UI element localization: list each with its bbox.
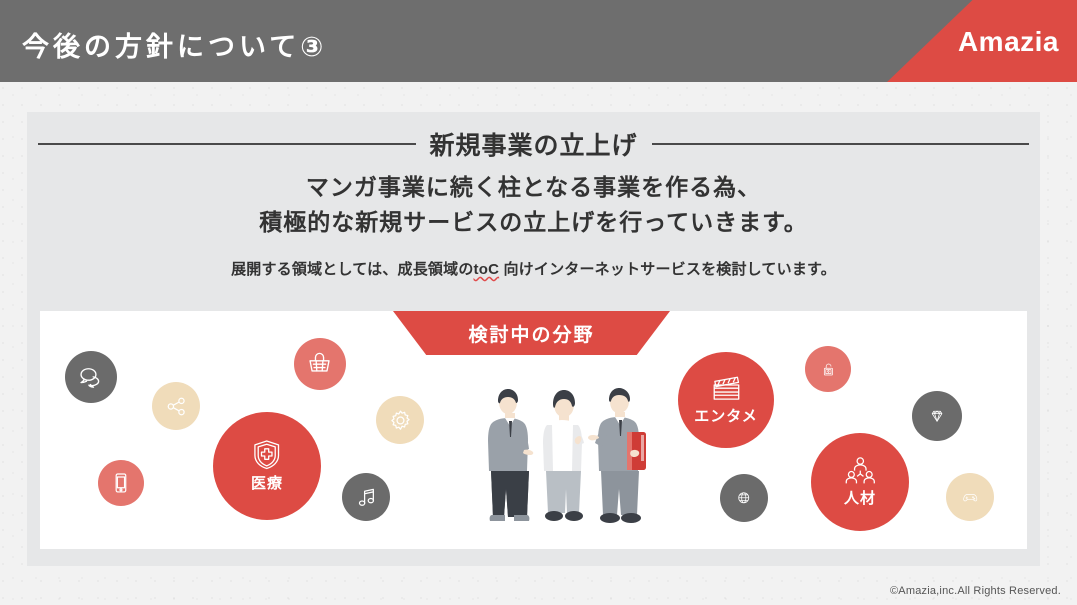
bubble-medical-shield[interactable]: 医療 [213,412,321,520]
sub-note-suffix: 向けインターネットサービスを検討しています。 [499,261,836,278]
bubble-globe[interactable] [720,474,768,522]
bubble-padlock[interactable] [805,346,851,392]
slide-header: 今後の方針について③ Amazia [0,0,1077,82]
person-center [543,390,584,521]
lead-line-1: マンガ事業に続く柱となる事業を作る為、 [27,170,1040,205]
bubble-label: エンタメ [694,405,758,426]
bubble-smartphone[interactable] [98,460,144,506]
sub-note-highlight: toC [474,261,500,278]
globe-icon [736,490,751,505]
bubble-clapperboard[interactable]: エンタメ [678,352,774,448]
sub-note: 展開する領域としては、成長領域のtoC 向けインターネットサービスを検討していま… [27,258,1040,279]
heading-rule-left [38,143,416,145]
section-heading: 新規事業の立上げ [27,126,1040,162]
person-left [488,389,533,521]
chat-bubble-icon [77,363,104,390]
bubble-people-group[interactable]: 人材 [811,433,909,531]
copyright-footer: ©Amazia,inc.All Rights Reserved. [890,585,1061,597]
ribbon-label: 検討中の分野 [468,320,594,347]
sub-note-prefix: 展開する領域としては、成長領域の [231,261,473,278]
section-heading-label: 新規事業の立上げ [430,126,638,162]
page-title: 今後の方針について③ [22,25,327,64]
bubble-chat-bubble[interactable] [65,351,117,403]
smartphone-icon [109,471,133,495]
share-nodes-icon [164,394,189,419]
content-panel: 新規事業の立上げ マンガ事業に続く柱となる事業を作る為、 積極的な新規サービスの… [27,112,1040,566]
bubble-label: 医療 [251,472,283,493]
person-right [588,388,646,523]
brand-logo-text: Amazia [958,26,1059,58]
medical-shield-icon [251,439,282,470]
bubble-diamond[interactable] [912,391,962,441]
bubble-label: 人材 [844,487,876,508]
clapperboard-icon [711,374,742,405]
bubble-gear[interactable] [376,396,424,444]
shopping-basket-icon [306,350,333,377]
ribbon-banner: 検討中の分野 [393,311,670,355]
lead-paragraph: マンガ事業に続く柱となる事業を作る為、 積極的な新規サービスの立上げを行っていき… [27,170,1040,240]
gear-icon [388,408,413,433]
bubble-music-note[interactable] [342,473,390,521]
heading-rule-right [652,143,1030,145]
people-group-icon [845,456,876,487]
slide-canvas: 今後の方針について③ Amazia 新規事業の立上げ マンガ事業に続く柱となる事… [0,0,1077,605]
music-note-icon [354,485,379,510]
bubble-share-nodes[interactable] [152,382,200,430]
bubble-gamepad[interactable] [946,473,994,521]
business-people-illustration [455,377,670,542]
gamepad-icon [962,489,978,505]
diamond-icon [929,408,945,424]
bubble-shopping-basket[interactable] [294,338,346,390]
lead-line-2: 積極的な新規サービスの立上げを行っていきます。 [27,205,1040,240]
fields-card: 検討中の分野 医療 [40,311,1027,549]
padlock-icon [821,362,836,377]
